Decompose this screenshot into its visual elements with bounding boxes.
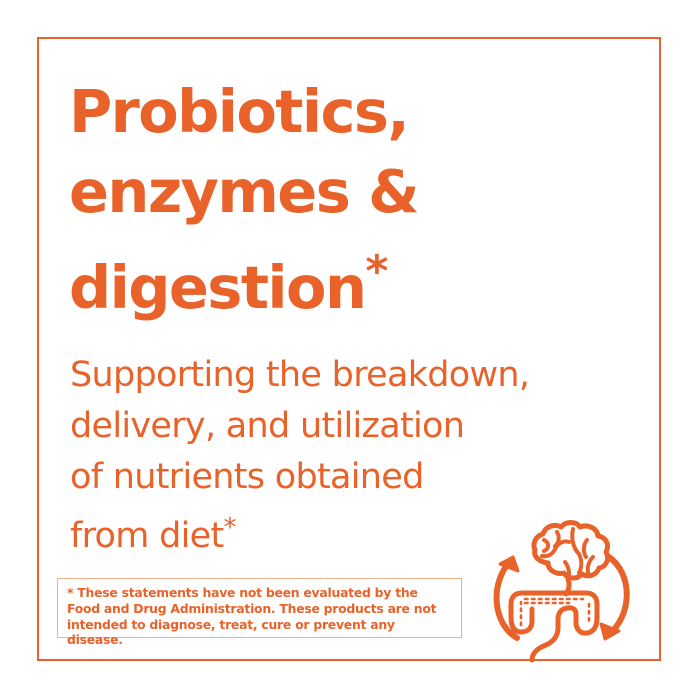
page-title: Probiotics,enzymes &digestion*: [69, 72, 539, 328]
arrow-down-right-icon: [601, 557, 627, 639]
subhead-line-2: delivery, and utilization: [70, 406, 464, 446]
subhead-footnote-marker: *: [223, 513, 235, 543]
disclaimer-line-1: * These statements have not been evaluat…: [67, 585, 418, 600]
headline-line-1: Probiotics,: [69, 77, 408, 146]
product-claim-card: Probiotics,enzymes &digestion* Supportin…: [0, 0, 700, 700]
headline-line-3: digestion: [69, 253, 365, 322]
brain-gut-axis-icon: [487, 512, 647, 664]
page-subtitle: Supporting the breakdown,delivery, and u…: [70, 350, 550, 562]
disclaimer-line-2: Food and Drug Administration. These prod…: [67, 601, 436, 616]
subhead-line-3: of nutrients obtained: [70, 457, 424, 497]
headline-footnote-marker: *: [365, 246, 388, 297]
headline-line-2: enzymes &: [69, 157, 418, 226]
brain-icon: [534, 523, 608, 581]
subhead-line-4: from diet: [70, 516, 223, 556]
subhead-line-1: Supporting the breakdown,: [70, 355, 529, 395]
intestine-icon: [511, 593, 597, 660]
fda-disclaimer: * These statements have not been evaluat…: [57, 578, 462, 638]
